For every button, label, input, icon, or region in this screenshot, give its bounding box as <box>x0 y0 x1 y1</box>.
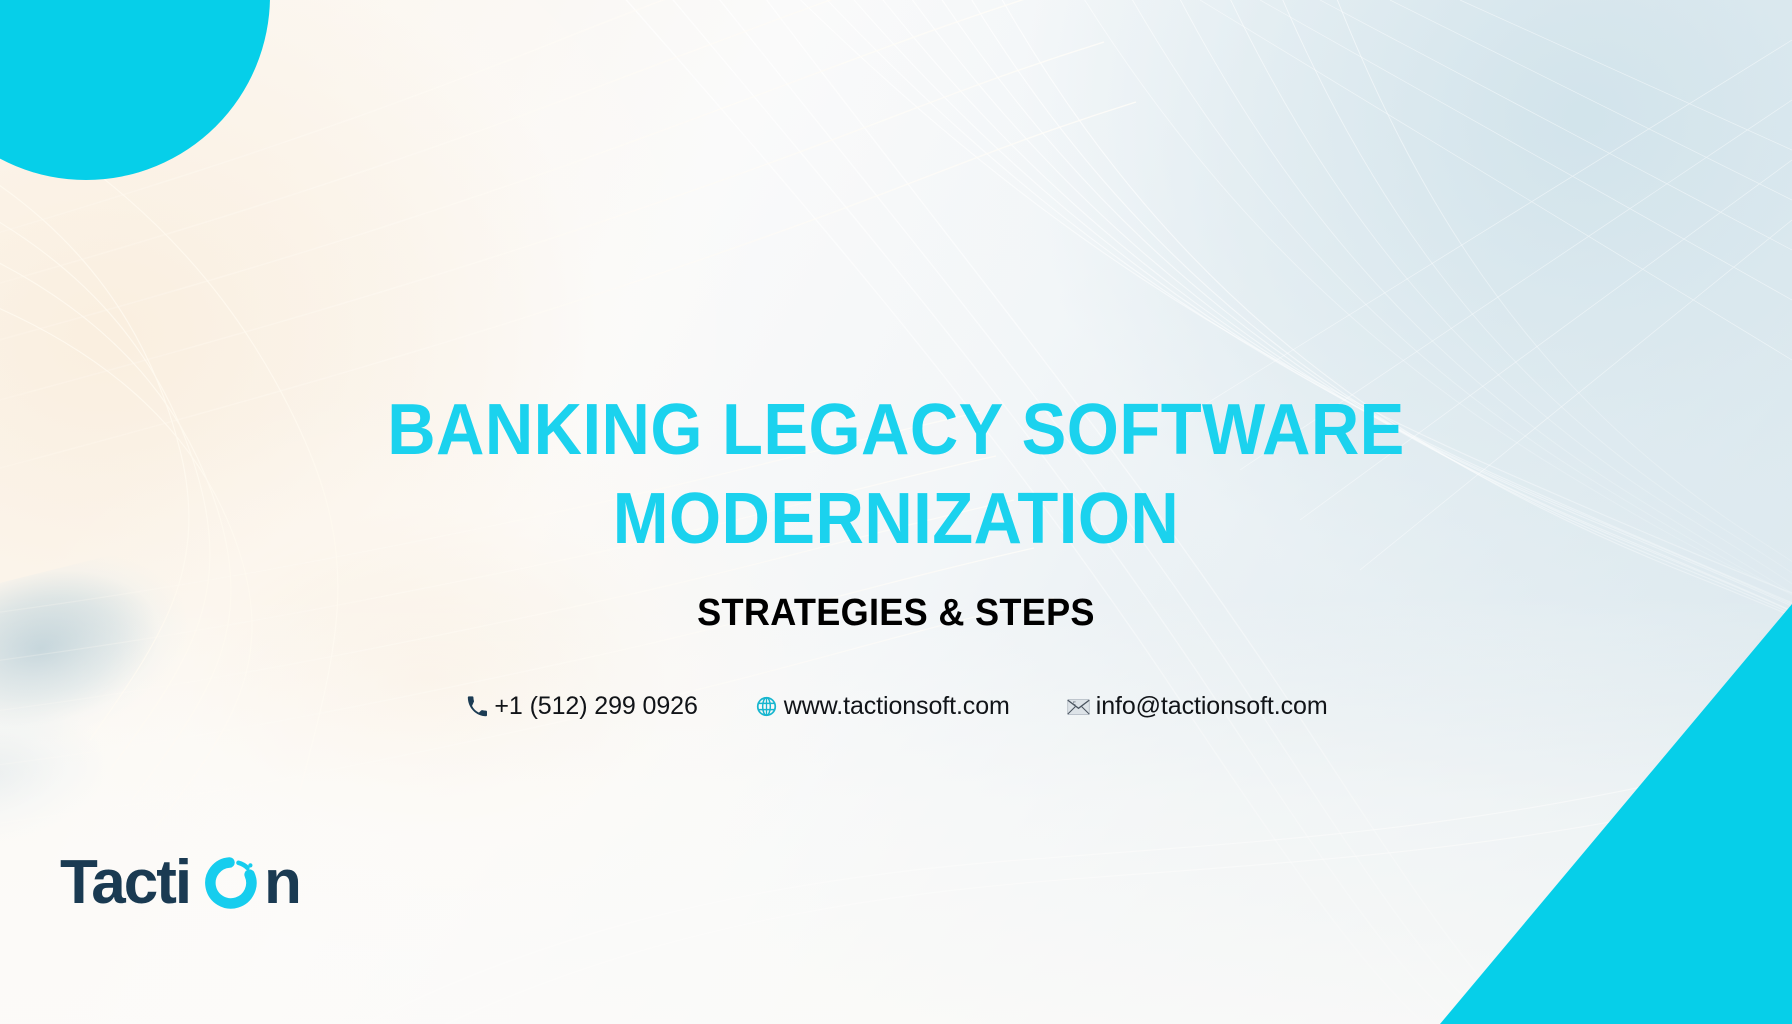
logo-wordmark-after: n <box>264 848 300 917</box>
logo-wordmark-before: Tacti <box>60 848 190 917</box>
envelope-icon: E <box>1066 694 1092 720</box>
svg-text:E: E <box>1073 700 1076 706</box>
banner-content: BANKING LEGACY SOFTWARE MODERNIZATION ST… <box>0 0 1792 1024</box>
page-title: BANKING LEGACY SOFTWARE MODERNIZATION <box>63 386 1730 563</box>
brand-logo[interactable]: Tacti n Taction <box>60 845 318 921</box>
promo-banner: BANKING LEGACY SOFTWARE MODERNIZATION ST… <box>0 0 1792 1024</box>
contact-row: +1 (512) 299 0926 www.tactionsoft.com <box>0 692 1792 721</box>
contact-phone-text: +1 (512) 299 0926 <box>494 692 697 721</box>
contact-website[interactable]: www.tactionsoft.com <box>754 692 1010 721</box>
contact-website-text: www.tactionsoft.com <box>784 692 1010 721</box>
logo-brush-ring <box>210 863 252 904</box>
contact-email-text: info@tactionsoft.com <box>1096 692 1328 721</box>
phone-icon <box>464 694 490 720</box>
page-subtitle: STRATEGIES & STEPS <box>45 592 1747 635</box>
headline-line-1: BANKING LEGACY SOFTWARE <box>63 386 1730 475</box>
contact-phone[interactable]: +1 (512) 299 0926 <box>464 692 697 721</box>
headline-line-2: MODERNIZATION <box>63 475 1730 564</box>
globe-icon <box>754 694 780 720</box>
contact-email[interactable]: E info@tactionsoft.com <box>1066 692 1328 721</box>
